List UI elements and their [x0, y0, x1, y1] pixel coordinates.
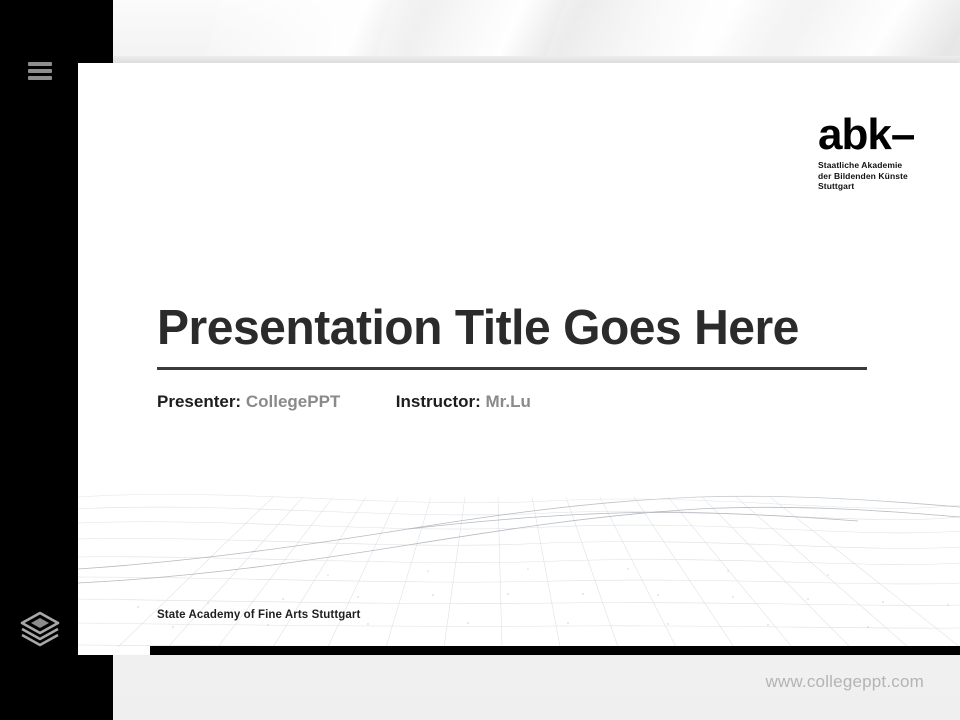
footer-black-bar	[150, 646, 960, 655]
logo-subtitle-line-2: der Bildenden Künste	[818, 171, 928, 182]
title-block: Presentation Title Goes Here Presenter: …	[157, 301, 869, 412]
slide-footer-text: State Academy of Fine Arts Stuttgart	[157, 609, 360, 621]
instructor-label: Instructor:	[396, 392, 481, 411]
logo-subtitle: Staatliche Akademie der Bildenden Künste…	[818, 160, 928, 192]
presenter-value: CollegePPT	[246, 392, 340, 411]
page-title: Presentation Title Goes Here	[157, 301, 855, 355]
backdrop-swoosh-band	[0, 0, 960, 64]
logo-wordmark: abk–	[818, 115, 928, 155]
logo-subtitle-line-3: Stuttgart	[818, 181, 928, 192]
instructor-value: Mr.Lu	[486, 392, 531, 411]
hamburger-bar	[28, 76, 52, 80]
logo-subtitle-line-1: Staatliche Akademie	[818, 160, 928, 171]
presenter-label: Presenter:	[157, 392, 241, 411]
slide-canvas: abk– Staatliche Akademie der Bildenden K…	[78, 63, 960, 655]
hamburger-menu-icon[interactable]	[28, 62, 52, 80]
presenter-instructor-line: Presenter: CollegePPT Instructor: Mr.Lu	[157, 392, 869, 412]
title-divider	[157, 367, 867, 370]
site-watermark: www.collegeppt.com	[765, 672, 924, 692]
abk-logo: abk– Staatliche Akademie der Bildenden K…	[818, 115, 928, 192]
hamburger-bar	[28, 69, 52, 73]
hamburger-bar	[28, 62, 52, 66]
screenshot-root: abk– Staatliche Akademie der Bildenden K…	[0, 0, 960, 720]
layers-stack-icon[interactable]	[16, 604, 64, 652]
